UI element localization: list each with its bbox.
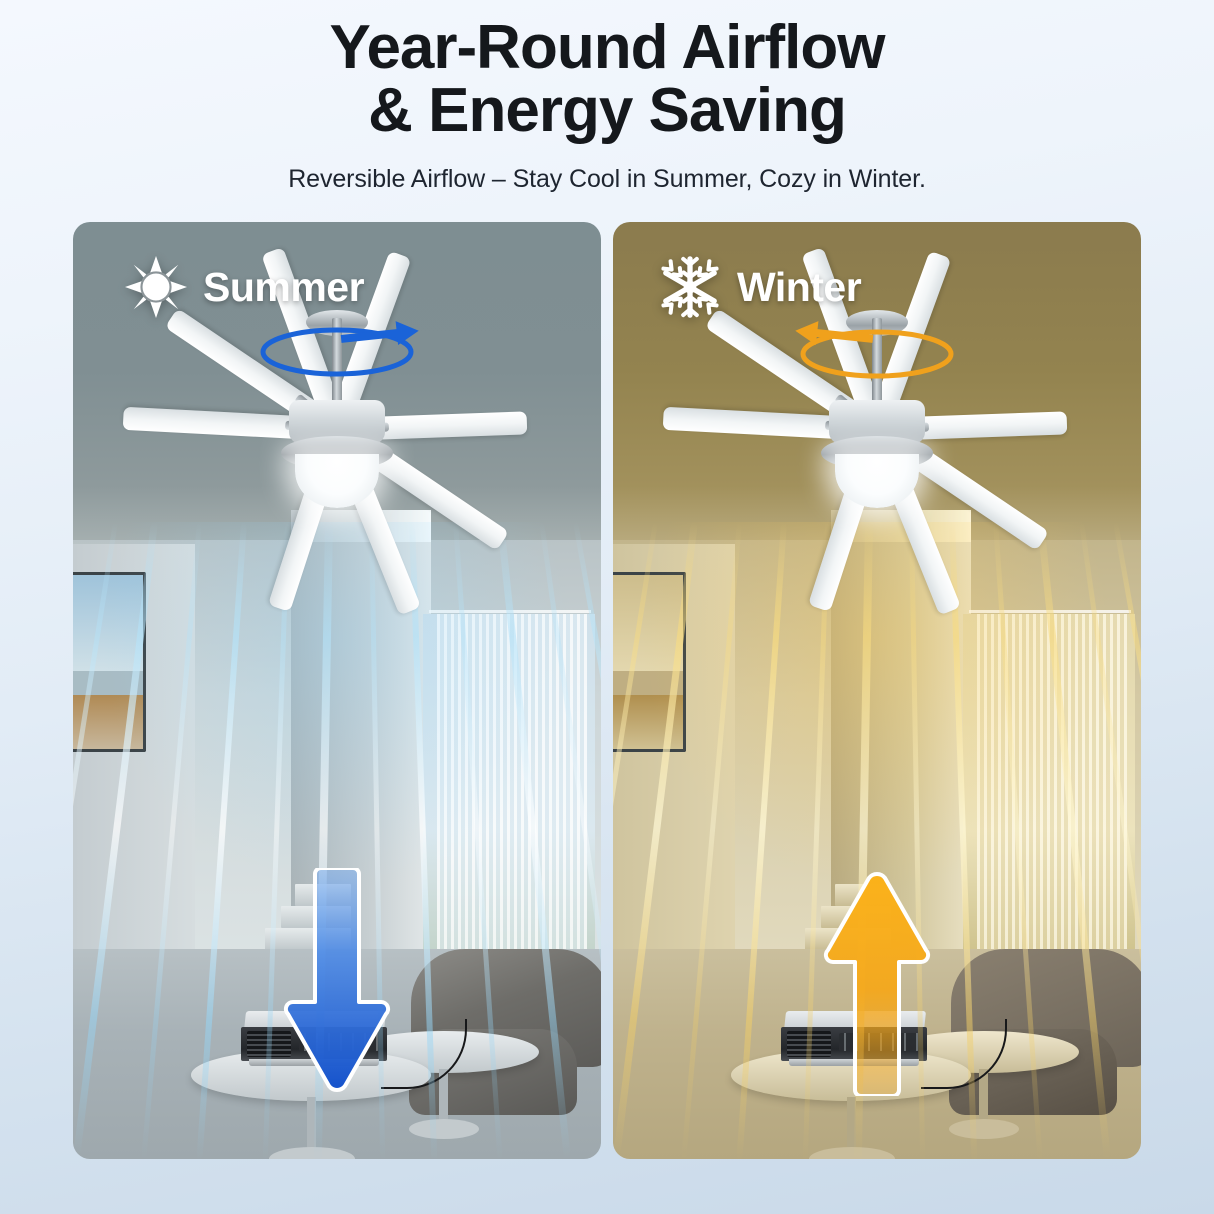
downdraft-arrow [281, 868, 393, 1094]
rotation-indicator-counter-clockwise [789, 322, 965, 378]
rotation-indicator-clockwise [249, 322, 425, 378]
comparison-panels: Summer [73, 222, 1142, 1159]
snowflake-icon [659, 256, 721, 318]
ceiling-fan-winter [617, 308, 1137, 568]
winter-label: Winter [737, 264, 861, 311]
winter-badge: Winter [659, 256, 861, 318]
winter-panel: Winter [613, 222, 1141, 1159]
sun-icon [125, 256, 187, 318]
summer-badge: Summer [125, 256, 364, 318]
updraft-arrow [821, 870, 933, 1096]
title-line-2: & Energy Saving [0, 79, 1214, 142]
title-line-1: Year-Round Airflow [0, 16, 1214, 79]
page-title: Year-Round Airflow & Energy Saving [0, 16, 1214, 142]
summer-panel: Summer [73, 222, 601, 1159]
ceiling-fan-summer [77, 308, 597, 568]
header: Year-Round Airflow & Energy Saving Rever… [0, 0, 1214, 194]
summer-label: Summer [203, 264, 364, 311]
page-subtitle: Reversible Airflow – Stay Cool in Summer… [0, 165, 1214, 194]
